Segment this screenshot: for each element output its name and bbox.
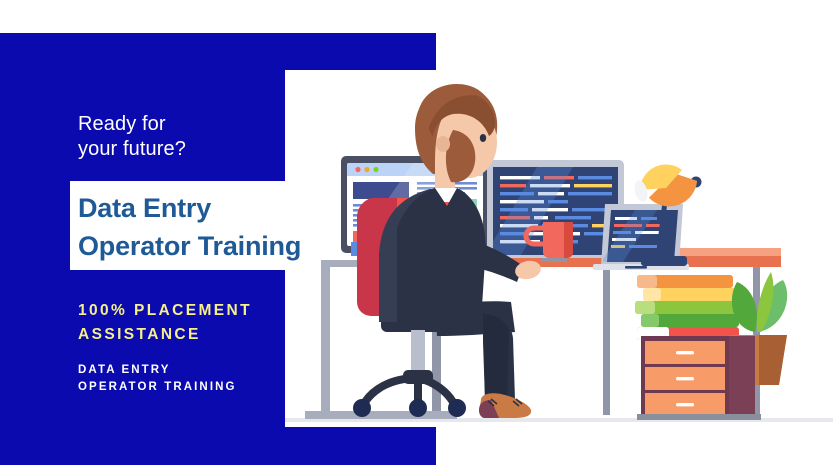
kicker-text: Ready for your future? xyxy=(78,112,318,162)
subtitle-line-1: DATA ENTRY xyxy=(78,364,171,376)
blue-bottom-strip xyxy=(0,427,436,465)
promo-line-1: 100% PLACEMENT xyxy=(78,302,252,319)
promotional-banner: Ready for your future? Data Entry Operat… xyxy=(0,0,833,465)
headline-line-2: Operator Training xyxy=(78,227,378,265)
subtitle-line-2: OPERATOR TRAINING xyxy=(78,379,378,396)
stack-of-books xyxy=(635,275,739,340)
headline-line-1: Data Entry xyxy=(78,193,211,223)
drawer-cabinet xyxy=(637,336,761,420)
promo-text: 100% PLACEMENT ASSISTANCE xyxy=(78,299,378,347)
page-title: Data Entry Operator Training xyxy=(78,189,378,265)
subtitle-text: DATA ENTRY OPERATOR TRAINING xyxy=(78,362,378,396)
promo-line-2: ASSISTANCE xyxy=(78,323,378,347)
kicker-line-2: your future? xyxy=(78,137,318,162)
kicker-line-1: Ready for xyxy=(78,113,166,135)
